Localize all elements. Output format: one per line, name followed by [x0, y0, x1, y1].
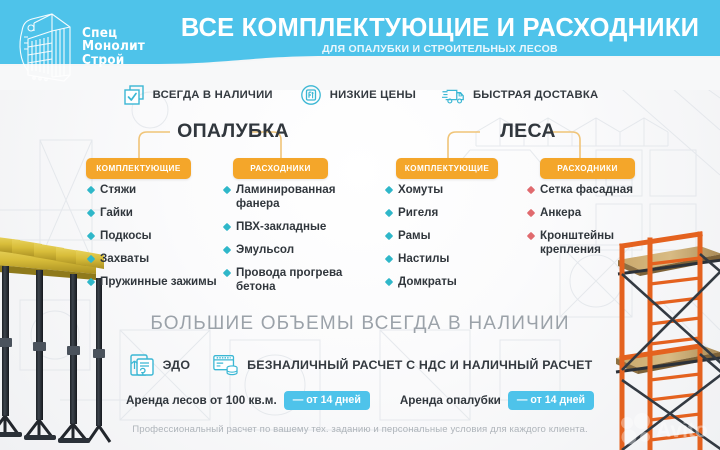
rental-label: Аренда опалубки	[400, 394, 501, 407]
diamond-bullet-icon	[87, 255, 95, 263]
list-item: Анкера	[528, 206, 678, 220]
list-item: Рамы	[386, 229, 516, 243]
rental-item-lesa: Аренда лесов от 100 кв.м. — от 14 дней	[126, 391, 370, 410]
delivery-truck-icon	[442, 84, 466, 106]
benefits-row: ВСЕГДА В НАЛИЧИИ НИЗКИЕ ЦЕНЫ БЫСТРАЯ ДОС…	[0, 78, 720, 112]
list-item-label: Пружинные зажимы	[100, 275, 217, 289]
diamond-bullet-icon	[223, 269, 231, 277]
tag-lesa-raskhodniki[interactable]: РАСХОДНИКИ	[540, 158, 635, 179]
list-item: Эмульсол	[224, 243, 374, 257]
diamond-bullet-icon	[223, 246, 231, 254]
banner-root: Спец Монолит Строй ВСЕ КОМПЛЕКТУЮЩИЕ И Р…	[0, 0, 720, 450]
list-opalubka-raskhodniki: Ламинированная фанера ПВХ-закладные Эмул…	[224, 183, 374, 303]
list-item-label: Домкраты	[398, 275, 457, 289]
list-item: ПВХ-закладные	[224, 220, 374, 234]
list-opalubka-komplektuyushchie: Стяжи Гайки Подкосы Захваты Пружинные за…	[88, 183, 223, 298]
diamond-bullet-icon	[527, 232, 535, 240]
footer-note: Профессиональный расчет по вашему тех. з…	[0, 424, 720, 435]
payment-item-invoice: БЕЗНАЛИЧНЫЙ РАСЧЕТ С НДС И НАЛИЧНЫЙ РАСЧ…	[212, 352, 592, 378]
brand-name: Спец Монолит Строй	[82, 27, 145, 68]
list-item-label: Эмульсол	[236, 243, 294, 257]
benefit-item-stock: ВСЕГДА В НАЛИЧИИ	[122, 84, 273, 106]
list-item-label: Сетка фасадная	[540, 183, 633, 197]
low-price-tag-icon	[299, 84, 323, 106]
diamond-bullet-icon	[223, 223, 231, 231]
list-item-label: Провода прогрева бетона	[236, 266, 374, 294]
list-item: Домкраты	[386, 275, 516, 289]
tag-opalubka-komplektuyushchie[interactable]: КОМПЛЕКТУЮЩИЕ	[86, 158, 191, 179]
list-item-label: Хомуты	[398, 183, 443, 197]
list-item-label: Ламинированная фанера	[236, 183, 374, 211]
diamond-bullet-icon	[385, 186, 393, 194]
list-item: Ригеля	[386, 206, 516, 220]
rental-term-badge[interactable]: — от 14 дней	[508, 391, 594, 410]
rental-label: Аренда лесов от 100 кв.м.	[126, 394, 277, 407]
list-item-label: ПВХ-закладные	[236, 220, 326, 234]
benefit-label: НИЗКИЕ ЦЕНЫ	[330, 89, 416, 101]
edo-document-exchange-icon	[128, 352, 156, 378]
benefit-label: БЫСТРАЯ ДОСТАВКА	[473, 89, 598, 101]
list-lesa-komplektuyushchie: Хомуты Ригеля Рамы Настилы Домкраты	[386, 183, 516, 298]
list-item-label: Кронштейны крепления	[540, 229, 678, 257]
diamond-bullet-icon	[385, 278, 393, 286]
list-item: Пружинные зажимы	[88, 275, 223, 289]
card-and-cash-icon	[212, 352, 240, 378]
payment-item-edo: ЭДО	[128, 352, 191, 378]
payment-label: ЭДО	[163, 358, 191, 372]
category-heading-lesa: ЛЕСА	[420, 120, 636, 143]
list-item: Сетка фасадная	[528, 183, 678, 197]
building-blueprint-logo-icon	[14, 11, 76, 83]
benefit-item-price: НИЗКИЕ ЦЕНЫ	[299, 84, 416, 106]
diamond-bullet-icon	[223, 186, 231, 194]
diamond-bullet-icon	[385, 255, 393, 263]
list-item: Настилы	[386, 252, 516, 266]
list-item-label: Ригеля	[398, 206, 438, 220]
checkbox-stack-icon	[122, 84, 146, 106]
diamond-bullet-icon	[385, 232, 393, 240]
list-item: Стяжи	[88, 183, 223, 197]
benefit-item-delivery: БЫСТРАЯ ДОСТАВКА	[442, 84, 598, 106]
list-item-label: Настилы	[398, 252, 449, 266]
list-item-label: Захваты	[100, 252, 149, 266]
list-item-label: Гайки	[100, 206, 133, 220]
payment-row: ЭДО БЕЗНАЛИЧНЫЙ РАСЧЕТ С НДС И НАЛИЧНЫЙ …	[0, 352, 720, 378]
category-heading-opalubka: ОПАЛУБКА	[118, 120, 348, 143]
diamond-bullet-icon	[87, 186, 95, 194]
list-item: Хомуты	[386, 183, 516, 197]
tag-lesa-komplektuyushchie[interactable]: КОМПЛЕКТУЮЩИЕ	[396, 158, 498, 179]
volumes-headline: БОЛЬШИЕ ОБЪЕМЫ ВСЕГДА В НАЛИЧИИ	[0, 313, 720, 335]
diamond-bullet-icon	[527, 209, 535, 217]
page-title: ВСЕ КОМПЛЕКТУЮЩИЕ И РАСХОДНИКИ	[170, 14, 710, 42]
brand-line-3: Строй	[82, 54, 145, 68]
page-subtitle: ДЛЯ ОПАЛУБКИ И СТРОИТЕЛЬНЫХ ЛЕСОВ	[170, 43, 710, 55]
diamond-bullet-icon	[385, 209, 393, 217]
rental-term-badge[interactable]: — от 14 дней	[284, 391, 370, 410]
benefit-label: ВСЕГДА В НАЛИЧИИ	[153, 89, 273, 101]
list-item: Захваты	[88, 252, 223, 266]
list-item-label: Анкера	[540, 206, 581, 220]
brand-logo[interactable]: Спец Монолит Строй	[14, 8, 154, 86]
list-item-label: Рамы	[398, 229, 431, 243]
rental-row: Аренда лесов от 100 кв.м. — от 14 дней А…	[0, 391, 720, 410]
list-item: Гайки	[88, 206, 223, 220]
diamond-bullet-icon	[87, 232, 95, 240]
list-item: Провода прогрева бетона	[224, 266, 374, 294]
diamond-bullet-icon	[527, 186, 535, 194]
list-item: Подкосы	[88, 229, 223, 243]
diamond-bullet-icon	[87, 278, 95, 286]
tag-opalubka-raskhodniki[interactable]: РАСХОДНИКИ	[233, 158, 328, 179]
list-item: Ламинированная фанера	[224, 183, 374, 211]
list-item-label: Стяжи	[100, 183, 136, 197]
diamond-bullet-icon	[87, 209, 95, 217]
rental-item-opalubka: Аренда опалубки — от 14 дней	[400, 391, 594, 410]
payment-label: БЕЗНАЛИЧНЫЙ РАСЧЕТ С НДС И НАЛИЧНЫЙ РАСЧ…	[247, 358, 592, 372]
list-item: Кронштейны крепления	[528, 229, 678, 257]
list-lesa-raskhodniki: Сетка фасадная Анкера Кронштейны креплен…	[528, 183, 678, 266]
list-item-label: Подкосы	[100, 229, 152, 243]
